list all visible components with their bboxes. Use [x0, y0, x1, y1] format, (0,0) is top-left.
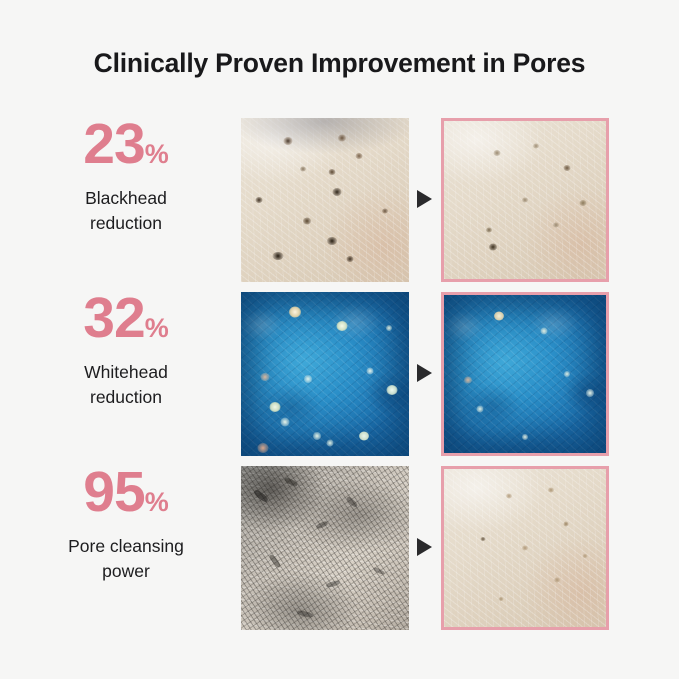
stat-number-pore-cleansing: 95%: [18, 464, 234, 521]
arrow-icon-whitehead: [417, 364, 432, 382]
blackhead-spots-before: [241, 118, 409, 282]
pores-infographic: Clinically Proven Improvement in Pores 2…: [0, 0, 679, 679]
stat-value: 95: [83, 460, 144, 524]
arrow-icon-blackhead: [417, 190, 432, 208]
stat-label-whitehead: Whitehead reduction: [18, 360, 234, 410]
stat-block-pore-cleansing: 95% Pore cleansing power: [18, 464, 234, 584]
before-image-pore-cleansing: [241, 466, 409, 630]
stat-block-whitehead: 32% Whitehead reduction: [18, 290, 234, 410]
stat-row-pore-cleansing: 95% Pore cleansing power: [0, 466, 679, 631]
stat-value: 32: [83, 286, 144, 350]
stat-row-whitehead: 32% Whitehead reduction: [0, 292, 679, 457]
stat-label-line-1: Whitehead: [18, 360, 234, 385]
stat-label-line-2: power: [18, 559, 234, 584]
stat-label-line-2: reduction: [18, 211, 234, 236]
before-image-blackhead: [241, 118, 409, 282]
after-image-blackhead: [441, 118, 609, 282]
stat-label-line-1: Pore cleansing: [18, 534, 234, 559]
percent-sign: %: [145, 139, 169, 169]
stat-label-line-2: reduction: [18, 385, 234, 410]
stat-label-pore-cleansing: Pore cleansing power: [18, 534, 234, 584]
after-image-whitehead: [441, 292, 609, 456]
whitehead-spots-before: [241, 292, 409, 456]
congestion-spots: [241, 466, 409, 630]
stat-row-blackhead: 23% Blackhead reduction: [0, 118, 679, 283]
before-image-whitehead: [241, 292, 409, 456]
clean-pore-spots: [444, 469, 606, 627]
after-image-pore-cleansing: [441, 466, 609, 630]
stat-label-line-1: Blackhead: [18, 186, 234, 211]
percent-sign: %: [145, 313, 169, 343]
page-title: Clinically Proven Improvement in Pores: [0, 48, 679, 79]
whitehead-spots-after: [444, 295, 606, 453]
percent-sign: %: [145, 487, 169, 517]
stat-number-blackhead: 23%: [18, 116, 234, 173]
stat-block-blackhead: 23% Blackhead reduction: [18, 116, 234, 236]
arrow-icon-pore-cleansing: [417, 538, 432, 556]
stat-value: 23: [83, 112, 144, 176]
blackhead-spots-after: [444, 121, 606, 279]
stat-number-whitehead: 32%: [18, 290, 234, 347]
stat-label-blackhead: Blackhead reduction: [18, 186, 234, 236]
